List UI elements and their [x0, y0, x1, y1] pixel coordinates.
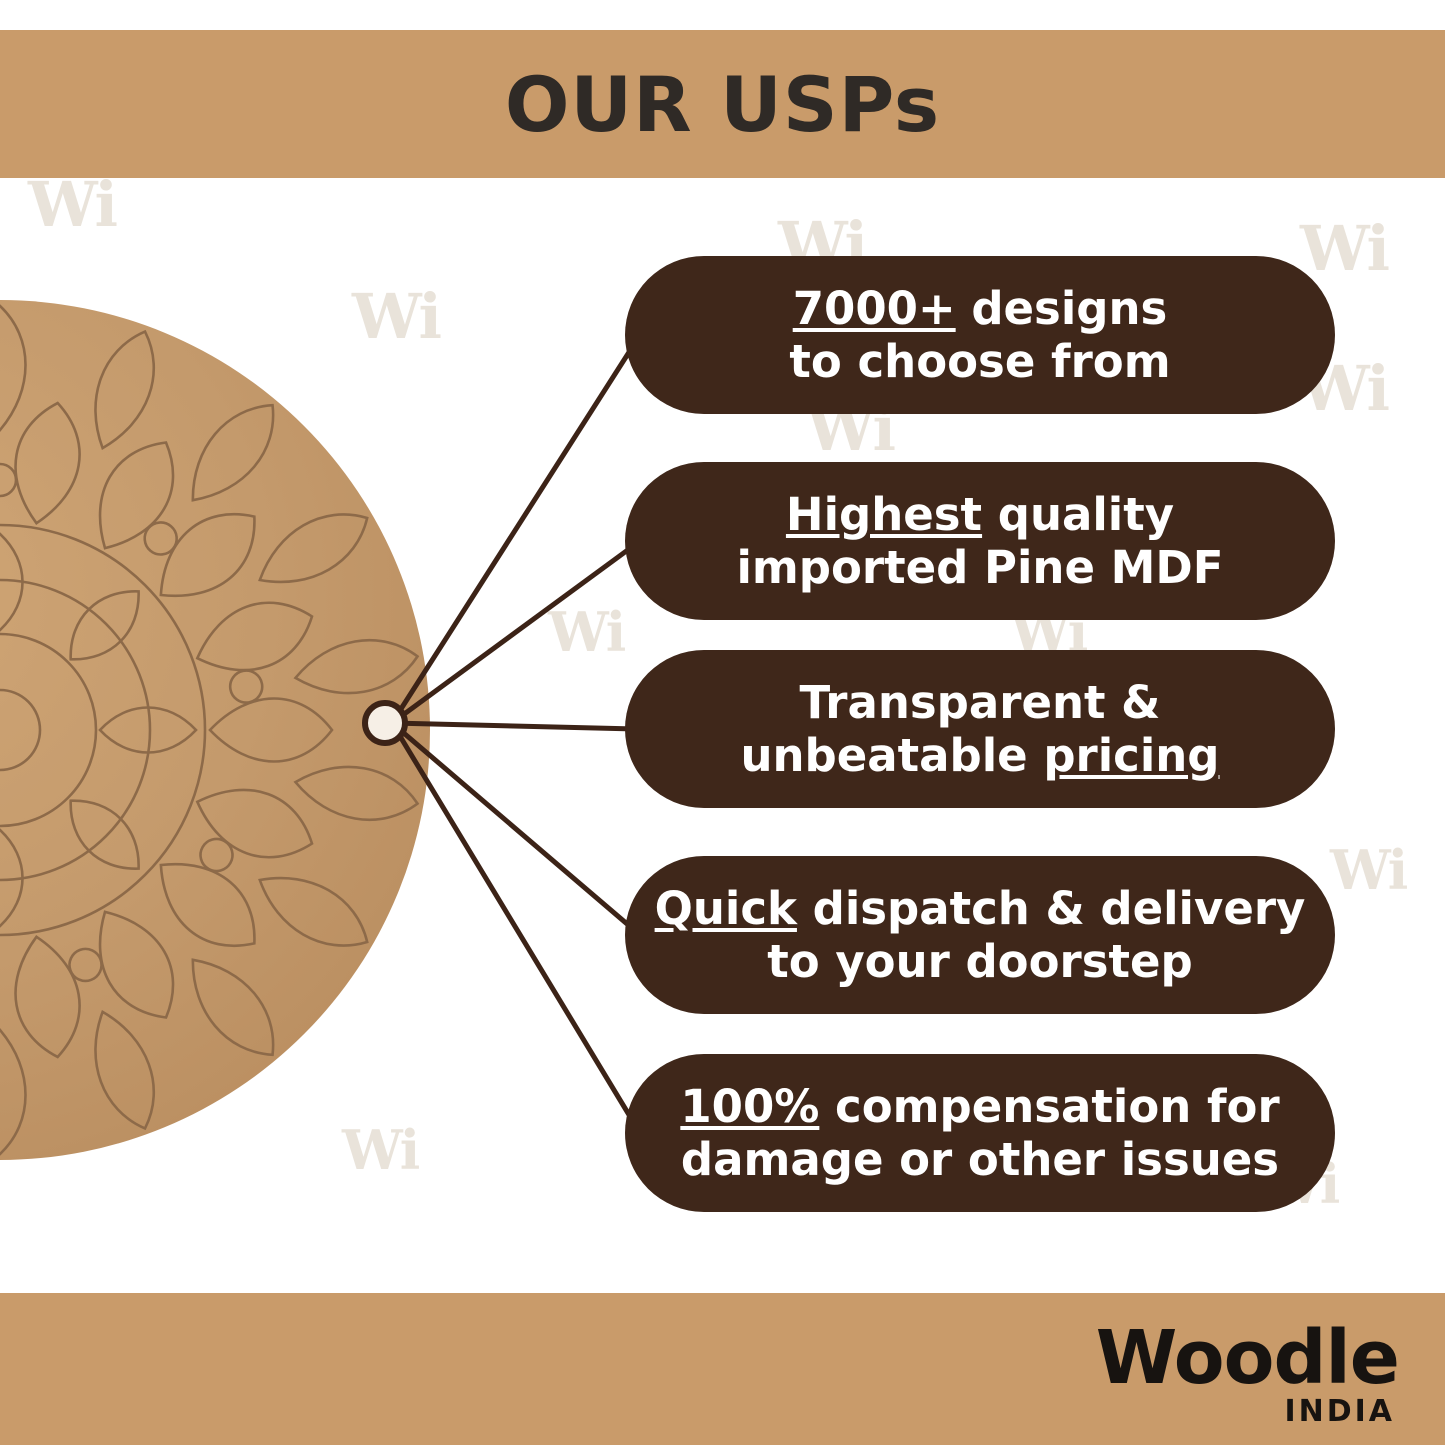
watermark: Wi	[352, 280, 440, 353]
usp-line1: Transparent &	[800, 676, 1161, 729]
usp-line2: to choose from	[789, 335, 1170, 388]
usp-pill: Highest quality imported Pine MDF	[625, 462, 1335, 620]
usp-pill-text: Highest quality imported Pine MDF	[736, 488, 1223, 594]
usp-rest: dispatch & delivery	[797, 882, 1305, 935]
usp-rest: unbeatable	[740, 729, 1043, 782]
usp-pill-text: Quick dispatch & delivery to your doorst…	[655, 882, 1306, 988]
brand-name: Woodle	[1096, 1321, 1399, 1395]
watermark: Wi	[342, 1118, 418, 1182]
usp-rest: compensation for	[819, 1080, 1279, 1133]
usp-pill: Transparent & unbeatable pricing	[625, 650, 1335, 808]
watermark: Wi	[548, 600, 624, 664]
usp-pill-text: Transparent & unbeatable pricing	[740, 676, 1219, 782]
usp-rest: designs	[956, 282, 1168, 335]
usp-line2: imported Pine MDF	[736, 541, 1223, 594]
usp-line2: to your doorstep	[767, 935, 1193, 988]
usp-highlight: pricing	[1043, 729, 1219, 782]
brand-subtitle: INDIA	[1096, 1397, 1395, 1427]
usp-pill: Quick dispatch & delivery to your doorst…	[625, 856, 1335, 1014]
usp-pill-text: 100% compensation for damage or other is…	[680, 1080, 1279, 1186]
page-title: OUR USPs	[0, 30, 1445, 178]
watermark: Wi	[1300, 212, 1388, 285]
usp-highlight: 100%	[680, 1080, 819, 1133]
usp-rest: quality	[982, 488, 1174, 541]
usp-pill: 7000+ designs to choose from	[625, 256, 1335, 414]
usp-pill: 100% compensation for damage or other is…	[625, 1054, 1335, 1212]
usp-line2: damage or other issues	[681, 1133, 1279, 1186]
usp-highlight: Highest	[786, 488, 982, 541]
usp-pill-text: 7000+ designs to choose from	[789, 282, 1170, 388]
hub-node	[362, 700, 408, 746]
watermark: Wi	[1330, 838, 1406, 902]
usp-highlight: 7000+	[793, 282, 956, 335]
watermark: Wi	[28, 168, 116, 241]
usp-highlight: Quick	[655, 882, 797, 935]
poster-canvas: Wi Wi Wi Wi Wi Wi Wi Wi Wi Wi Wi	[0, 0, 1445, 1445]
brand-logo: Woodle INDIA	[1096, 1321, 1399, 1427]
